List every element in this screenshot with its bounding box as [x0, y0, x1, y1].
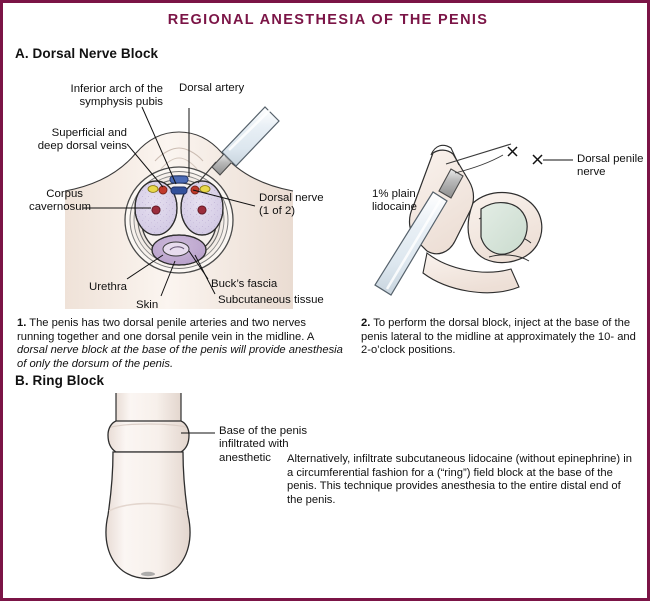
x-marker-right — [533, 155, 542, 164]
label-inferior-arch: Inferior arch of the symphysis pubis — [51, 83, 163, 110]
label-skin: Skin — [136, 299, 158, 312]
label-dorsal-nerve: Dorsal nerve (1 of 2) — [259, 192, 324, 219]
label-corpus-cavernosum: Corpus cavernosum — [29, 188, 83, 215]
label-bucks-fascia: Buck’s fascia — [211, 278, 277, 291]
caption-2-number: 2. — [361, 317, 370, 329]
label-superficial-deep-veins: Superficial and deep dorsal veins — [37, 127, 127, 154]
caption-2-text: To perform the dorsal block, inject at t… — [361, 317, 636, 356]
x-marker-left — [508, 147, 517, 156]
caption-1-italic: dorsal nerve block at the base of the pe… — [17, 344, 343, 370]
caption-1: 1. The penis has two dorsal penile arter… — [17, 317, 343, 371]
figure-3-ring-block — [106, 393, 215, 579]
illustration-page: REGIONAL ANESTHESIA OF THE PENIS A. Dors… — [0, 0, 650, 601]
caption-1-roman: The penis has two dorsal penile arteries… — [17, 317, 314, 343]
caption-1-number: 1. — [17, 317, 26, 329]
caption-3: Alternatively, infiltrate subcutaneous l… — [287, 453, 639, 507]
label-subcutaneous-tissue: Subcutaneous tissue — [218, 294, 324, 307]
label-dorsal-penile-nerve: Dorsal penile nerve — [577, 153, 643, 180]
label-urethra: Urethra — [89, 281, 127, 294]
label-lidocaine: 1% plain lidocaine — [372, 188, 417, 215]
label-dorsal-artery: Dorsal artery — [179, 82, 244, 95]
figure-2-hand-syringe — [375, 144, 573, 295]
caption-2: 2. To perform the dorsal block, inject a… — [361, 317, 645, 358]
